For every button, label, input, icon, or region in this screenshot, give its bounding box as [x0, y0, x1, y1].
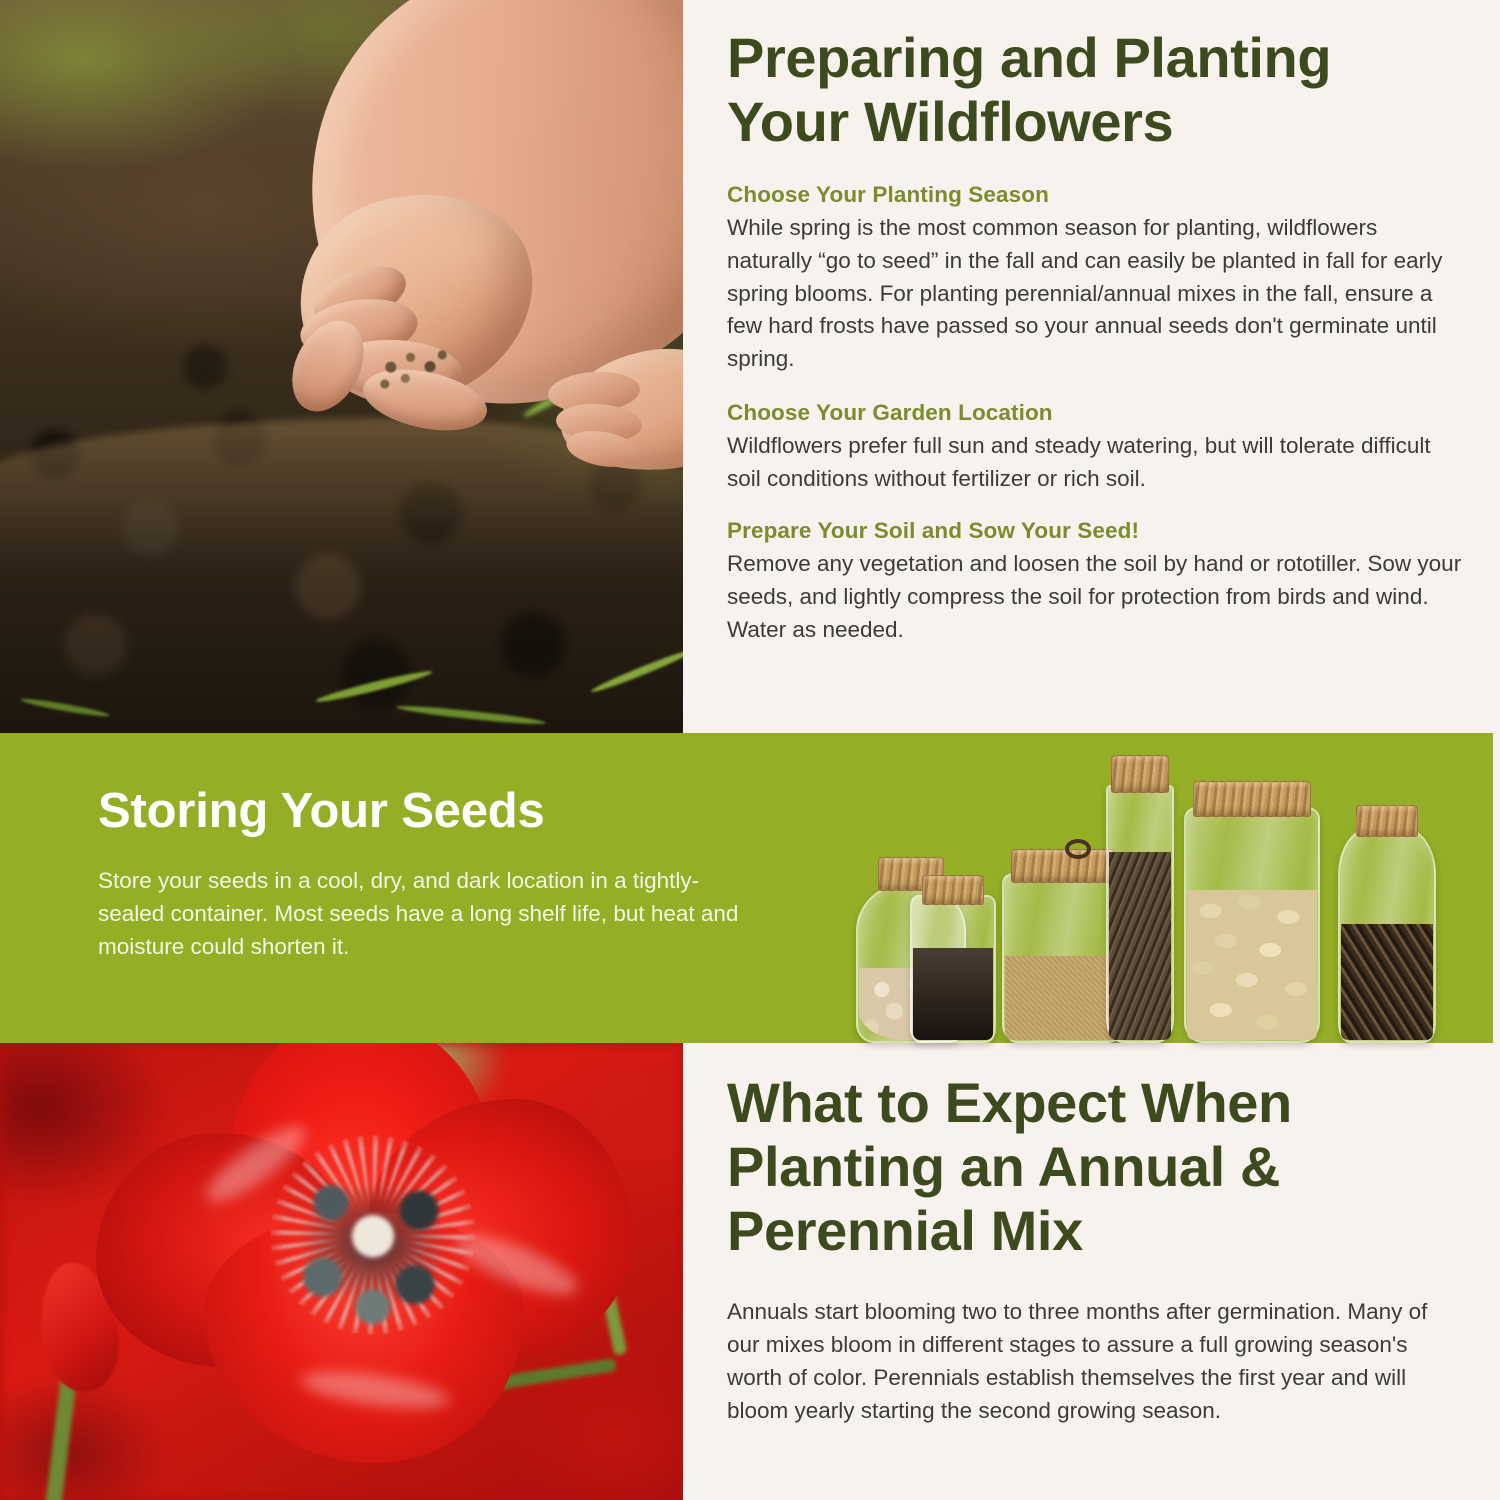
seed-jar-dark-seed — [910, 895, 996, 1043]
section-three-title: What to Expect When Planting an Annual &… — [727, 1071, 1462, 1262]
section-what-to-expect: What to Expect When Planting an Annual &… — [0, 1043, 1500, 1500]
soil-ridge — [0, 418, 683, 733]
section-two-title: Storing Your Seeds — [98, 785, 758, 839]
poppy-flower-photo — [0, 1043, 683, 1500]
body-planting-season: While spring is the most common season f… — [727, 212, 1462, 376]
section-preparing-and-planting: Preparing and Planting Your Wildflowers … — [0, 0, 1500, 733]
cork-lid — [922, 875, 984, 905]
seed-jars-photo — [838, 745, 1458, 1043]
section-one-text: Preparing and Planting Your Wildflowers … — [727, 0, 1462, 733]
section-two-text: Storing Your Seeds Store your seeds in a… — [98, 785, 758, 963]
seed-fill — [1187, 890, 1317, 1040]
section-storing-your-seeds: Storing Your Seeds Store your seeds in a… — [0, 733, 1493, 1043]
poppy-bloom — [100, 1043, 620, 1485]
subheading-prepare-soil: Prepare Your Soil and Sow Your Seed! — [727, 516, 1462, 545]
section-two-body: Store your seeds in a cool, dry, and dar… — [98, 865, 758, 964]
cork-lid — [1111, 755, 1169, 793]
soil-planting-photo — [0, 0, 683, 733]
seed-fill — [1341, 924, 1433, 1040]
body-prepare-soil: Remove any vegetation and loosen the soi… — [727, 548, 1462, 647]
seed-jar-pumpkin-seeds — [1184, 807, 1320, 1043]
seed-fill — [1005, 956, 1121, 1040]
section-three-body: Annuals start blooming two to three mont… — [727, 1296, 1462, 1427]
cork-lid — [1193, 781, 1311, 817]
seed-jar-sunflower-seeds — [1338, 827, 1436, 1043]
seed-jar-tall-tube — [1106, 785, 1174, 1043]
flower-center — [268, 1147, 478, 1333]
infographic-page: Preparing and Planting Your Wildflowers … — [0, 0, 1500, 1500]
body-garden-location: Wildflowers prefer full sun and steady w… — [727, 430, 1462, 496]
subheading-garden-location: Choose Your Garden Location — [727, 398, 1462, 427]
seed-fill — [1109, 852, 1171, 1040]
section-three-text: What to Expect When Planting an Annual &… — [727, 1043, 1462, 1428]
subheading-planting-season: Choose Your Planting Season — [727, 180, 1462, 209]
seed-fill — [913, 948, 993, 1040]
cork-lid — [1356, 805, 1418, 837]
cork-lid — [1011, 849, 1115, 883]
section-one-title: Preparing and Planting Your Wildflowers — [727, 26, 1462, 154]
